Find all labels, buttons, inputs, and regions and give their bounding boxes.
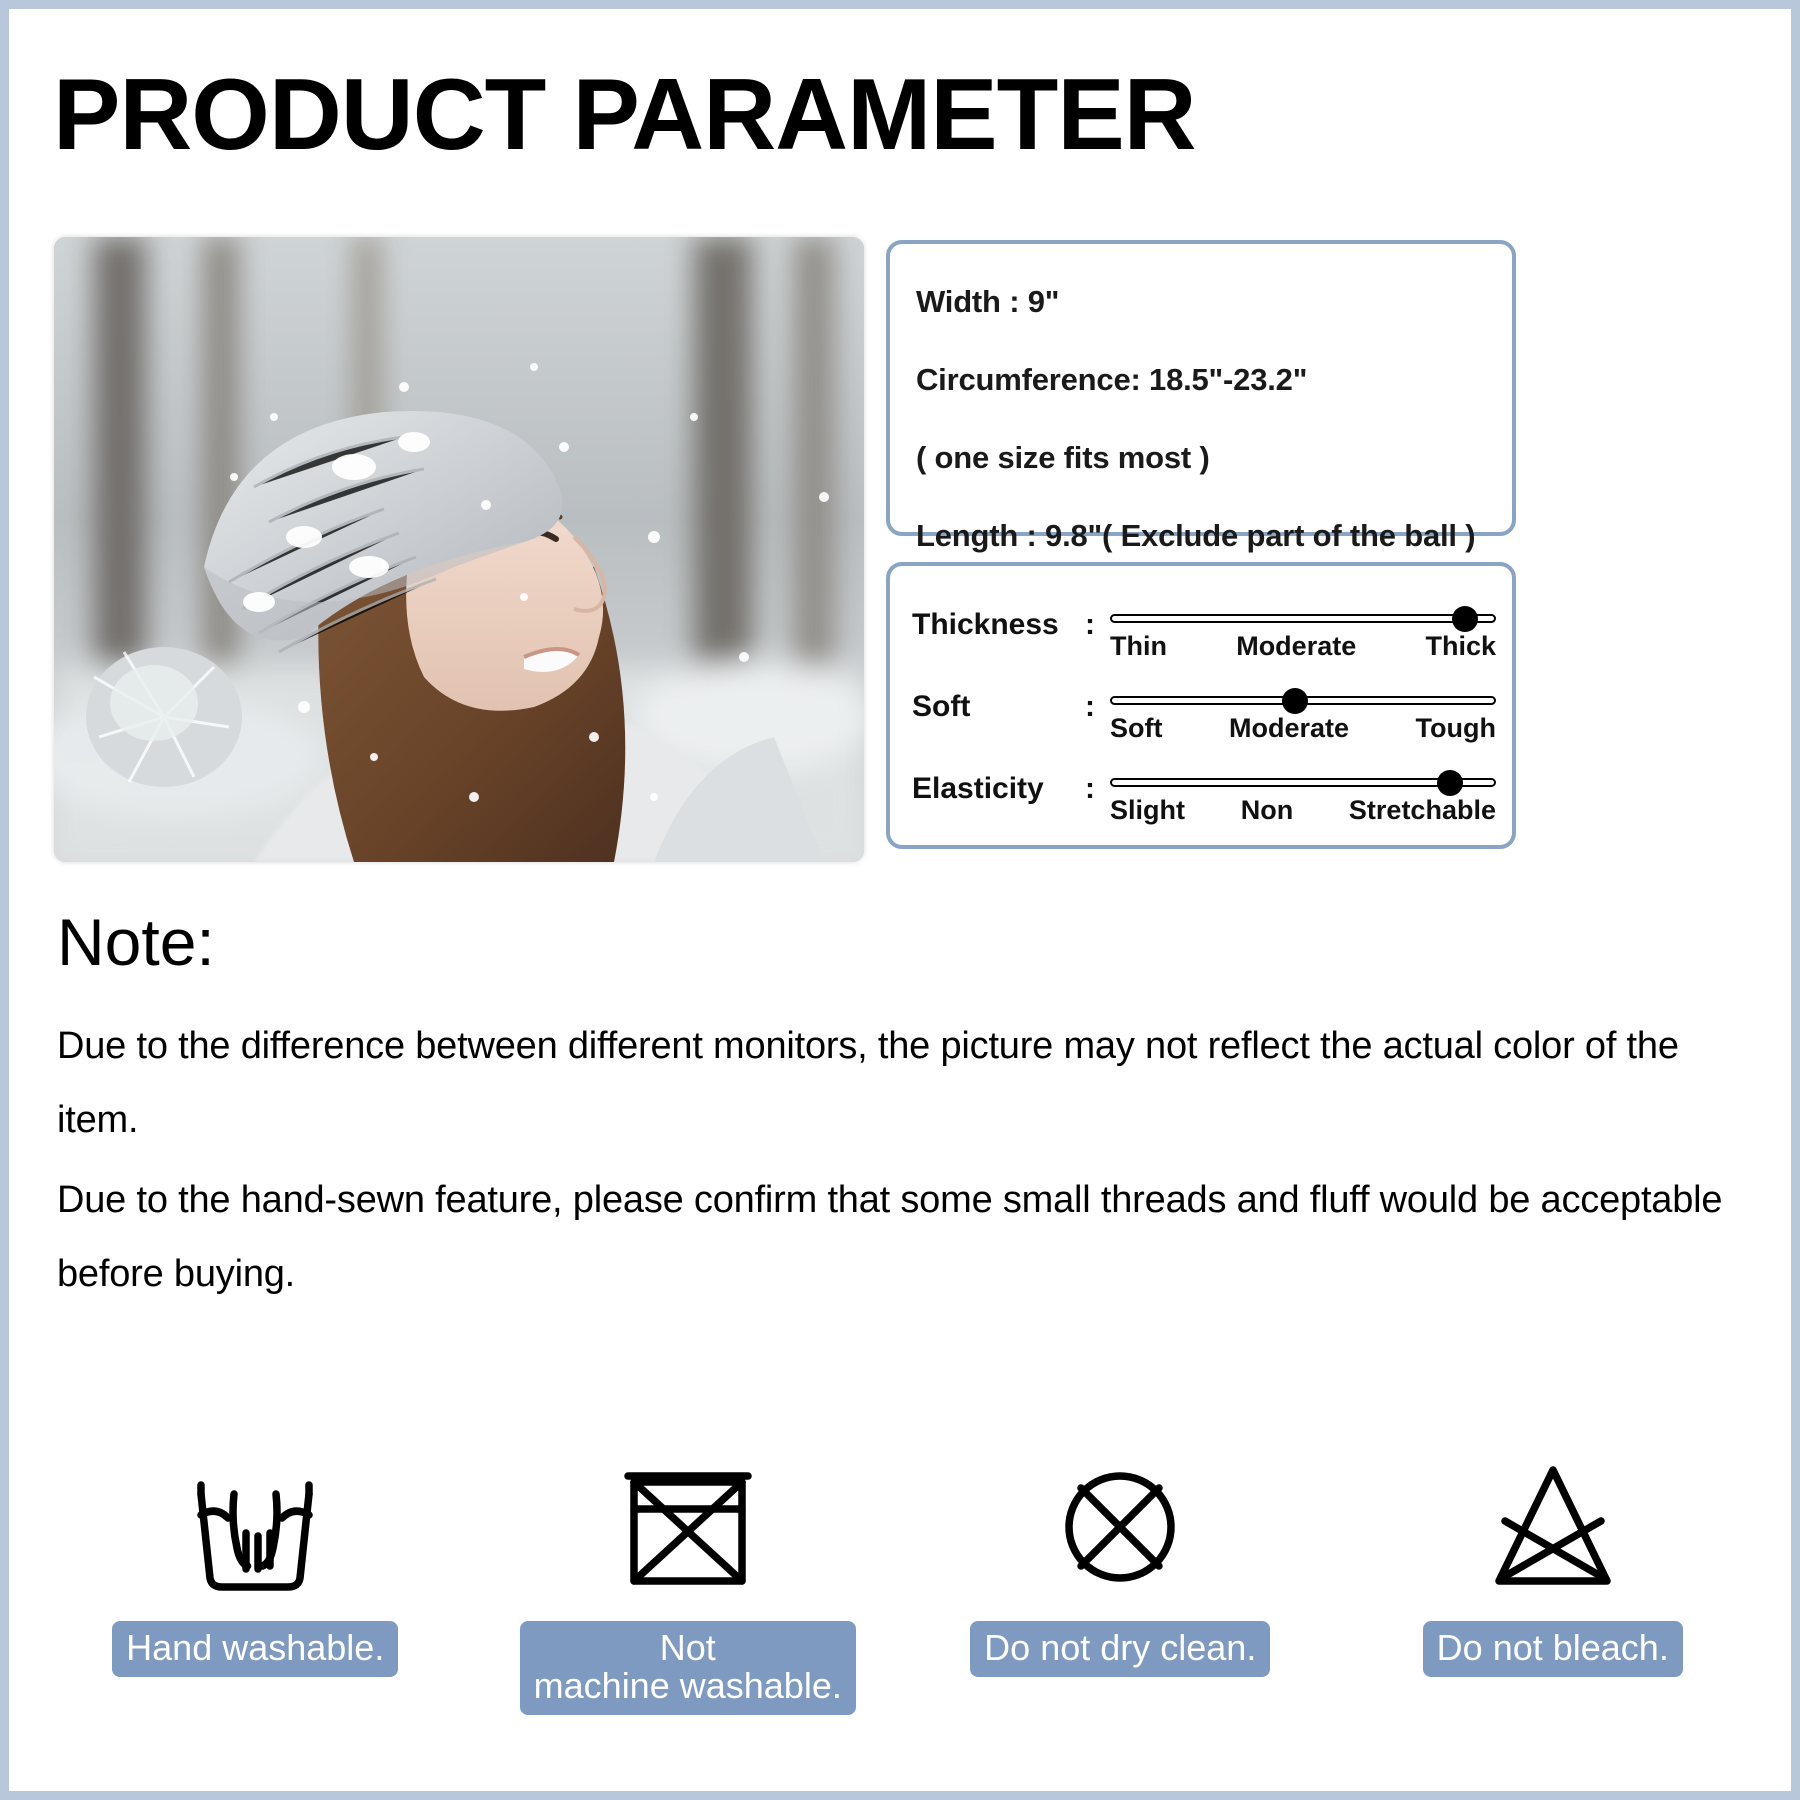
product-parameter-page: PRODUCT PARAMETER [0, 0, 1800, 1800]
note-body: Due to the difference between different … [57, 1009, 1757, 1311]
slider-ticks-elasticity: Slight Non Stretchable [1110, 795, 1496, 826]
care-caption-no-dry-clean: Do not dry clean. [970, 1621, 1270, 1677]
no-machine-wash-icon [613, 1449, 763, 1599]
tick-moderate-soft: Moderate [1229, 713, 1349, 744]
care-caption-hand-wash: Hand washable. [112, 1621, 398, 1677]
care-caption-no-machine-wash: Not machine washable. [520, 1621, 856, 1715]
tick-tough: Tough [1416, 713, 1496, 744]
slider-row-elasticity: Elasticity : Slight Non Stretchable [912, 760, 1494, 842]
tick-moderate: Moderate [1236, 631, 1356, 662]
spec-width: Width : 9" [916, 286, 1512, 317]
dimensions-box: Width : 9" Circumference: 18.5"-23.2" ( … [886, 240, 1516, 536]
care-instructions-row: Hand washable. Not machine washable. [39, 1449, 1769, 1715]
slider-row-thickness: Thickness : Thin Moderate Thick [912, 596, 1494, 678]
spec-length: Length : 9.8"( Exclude part of the ball … [916, 520, 1512, 551]
note-paragraph-color: Due to the difference between different … [57, 1009, 1757, 1157]
care-item-no-bleach: Do not bleach. [1337, 1449, 1770, 1715]
slider-knob-soft[interactable] [1282, 688, 1308, 714]
slider-ticks-soft: Soft Moderate Tough [1110, 713, 1496, 744]
care-item-hand-wash: Hand washable. [39, 1449, 472, 1715]
attributes-box: Thickness : Thin Moderate Thick Soft : [886, 562, 1516, 849]
hand-wash-icon [180, 1449, 330, 1599]
spec-circumference: Circumference: 18.5"-23.2" [916, 364, 1512, 395]
slider-track-elasticity[interactable] [1110, 774, 1496, 790]
slider-thickness[interactable]: Thin Moderate Thick [1110, 596, 1496, 662]
slider-elasticity[interactable]: Slight Non Stretchable [1110, 760, 1496, 826]
slider-row-soft: Soft : Soft Moderate Tough [912, 678, 1494, 760]
note-paragraph-handsewn: Due to the hand-sewn feature, please con… [57, 1163, 1757, 1311]
tick-soft: Soft [1110, 713, 1162, 744]
slider-colon-soft: : [1085, 690, 1095, 724]
tick-thick: Thick [1425, 631, 1496, 662]
slider-label-thickness: Thickness [912, 608, 1059, 642]
slider-label-elasticity: Elasticity [912, 772, 1044, 806]
note-heading: Note: [57, 909, 215, 975]
tick-non: Non [1241, 795, 1293, 826]
tick-thin: Thin [1110, 631, 1167, 662]
spec-size-note: ( one size fits most ) [916, 442, 1512, 473]
slider-colon-elasticity: : [1085, 772, 1095, 806]
slider-track-thickness[interactable] [1110, 610, 1496, 626]
slider-knob-elasticity[interactable] [1437, 770, 1463, 796]
slider-track-soft[interactable] [1110, 692, 1496, 708]
no-bleach-icon [1478, 1449, 1628, 1599]
slider-bar-thickness [1110, 614, 1496, 623]
tick-slight: Slight [1110, 795, 1185, 826]
tick-stretchable: Stretchable [1349, 795, 1496, 826]
slider-knob-thickness[interactable] [1452, 606, 1478, 632]
care-item-no-machine-wash: Not machine washable. [472, 1449, 905, 1715]
slider-soft[interactable]: Soft Moderate Tough [1110, 678, 1496, 744]
product-photo [54, 237, 864, 862]
slider-colon-thickness: : [1085, 608, 1095, 642]
photo-illustration [54, 237, 864, 862]
slider-ticks-thickness: Thin Moderate Thick [1110, 631, 1496, 662]
care-caption-no-bleach: Do not bleach. [1423, 1621, 1683, 1677]
no-dry-clean-icon [1045, 1449, 1195, 1599]
page-title: PRODUCT PARAMETER [53, 65, 1196, 166]
care-item-no-dry-clean: Do not dry clean. [904, 1449, 1337, 1715]
slider-label-soft: Soft [912, 690, 970, 724]
